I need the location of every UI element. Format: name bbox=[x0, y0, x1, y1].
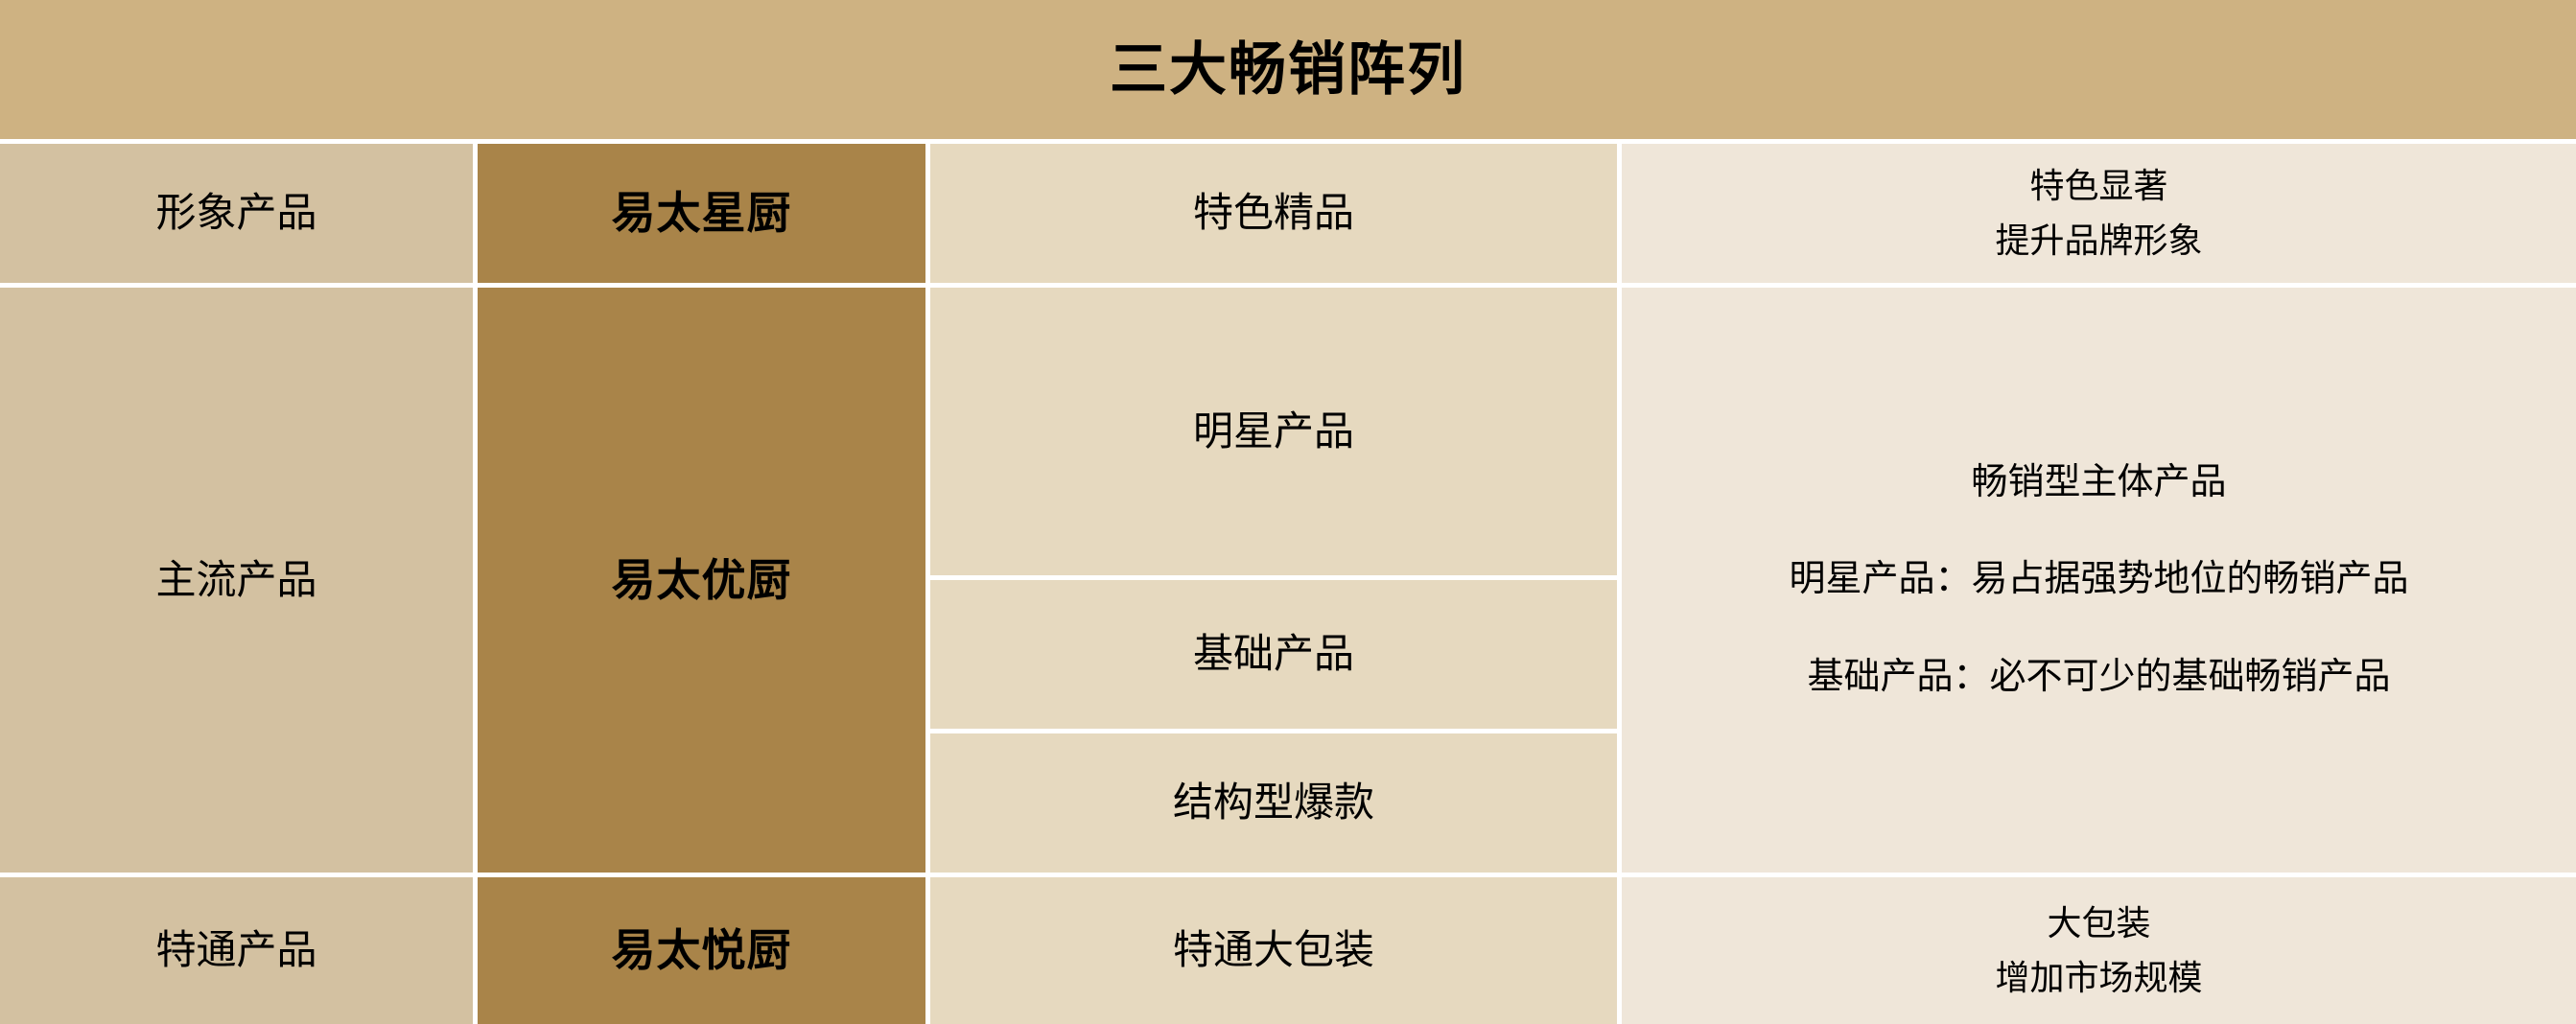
category-label: 主流产品 bbox=[155, 551, 316, 610]
category-label: 形象产品 bbox=[155, 184, 316, 243]
type-cell-row2-0: 明星产品 bbox=[930, 288, 1617, 575]
type-cell-row1-0: 特色精品 bbox=[930, 144, 1617, 283]
brand-cell-row2: 易太优厨 bbox=[478, 288, 925, 873]
table-header-band: 三大畅销阵列 bbox=[0, 0, 2576, 139]
page-title: 三大畅销阵列 bbox=[1110, 41, 1466, 99]
brand-cell-row3: 易太悦厨 bbox=[478, 877, 925, 1024]
type-label: 特通大包装 bbox=[1173, 921, 1374, 980]
category-cell-row3: 特通产品 bbox=[0, 877, 473, 1024]
brand-label: 易太星厨 bbox=[612, 181, 792, 245]
type-label: 结构型爆款 bbox=[1173, 774, 1374, 832]
description-line: 增加市场规模 bbox=[1995, 953, 2202, 1003]
category-label: 特通产品 bbox=[155, 921, 316, 980]
brand-cell-row1: 易太星厨 bbox=[478, 144, 925, 283]
category-cell-row2: 主流产品 bbox=[0, 288, 473, 873]
brand-label: 易太优厨 bbox=[612, 548, 792, 613]
type-label: 特色精品 bbox=[1193, 184, 1354, 243]
description-line: 特色显著 bbox=[2029, 161, 2167, 211]
description-cell-row2: 畅销型主体产品 明星产品：易占据强势地位的畅销产品 基础产品：必不可少的基础畅销… bbox=[1622, 288, 2576, 873]
type-cell-row3-0: 特通大包装 bbox=[930, 877, 1617, 1024]
brand-label: 易太悦厨 bbox=[612, 919, 792, 983]
product-matrix-table: 三大畅销阵列 形象产品 易太星厨 特色精品 特色显著 提升品牌形象 主流产品 易… bbox=[0, 0, 2576, 1024]
type-label: 明星产品 bbox=[1193, 403, 1354, 461]
description-cell-row1: 特色显著 提升品牌形象 bbox=[1622, 144, 2576, 283]
description-line: 明星产品：易占据强势地位的畅销产品 bbox=[1789, 553, 2408, 606]
type-label: 基础产品 bbox=[1193, 625, 1354, 684]
description-line: 畅销型主体产品 bbox=[1971, 456, 2226, 509]
description-line: 基础产品：必不可少的基础畅销产品 bbox=[1807, 651, 2390, 704]
description-line: 大包装 bbox=[2047, 898, 2150, 948]
description-cell-row3: 大包装 增加市场规模 bbox=[1622, 877, 2576, 1024]
description-line: 提升品牌形象 bbox=[1995, 216, 2202, 266]
category-cell-row1: 形象产品 bbox=[0, 144, 473, 283]
type-cell-row2-1: 基础产品 bbox=[930, 580, 1617, 729]
type-cell-row2-2: 结构型爆款 bbox=[930, 733, 1617, 873]
